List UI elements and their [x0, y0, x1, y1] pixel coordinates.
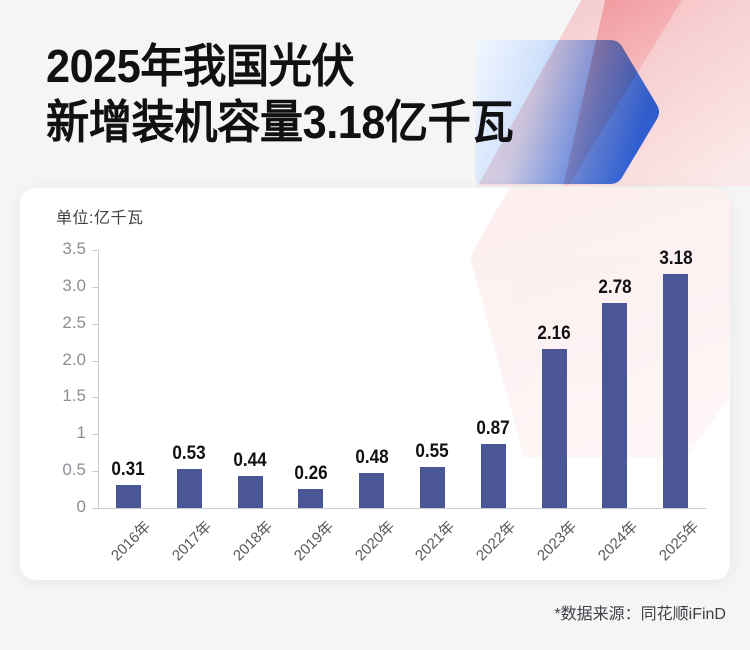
- y-axis-tick: [92, 434, 98, 435]
- y-axis-tick: [92, 397, 98, 398]
- x-axis-label: 2017年: [152, 516, 216, 580]
- y-axis-tick: [92, 508, 98, 509]
- y-axis-label: 1: [20, 423, 86, 443]
- y-axis-tick: [92, 250, 98, 251]
- bar-value-label: 0.31: [100, 459, 158, 481]
- y-axis-label: 0.5: [20, 460, 86, 480]
- chart-card: 单位:亿千瓦 00.511.52.02.53.03.50.312016年0.53…: [20, 188, 730, 580]
- bar: [542, 349, 567, 508]
- bar: [116, 485, 141, 508]
- y-axis-tick: [92, 324, 98, 325]
- bar-value-label: 2.16: [525, 323, 583, 345]
- x-axis-label: 2016年: [91, 516, 155, 580]
- y-axis-tick: [92, 471, 98, 472]
- y-axis-label: 2.5: [20, 313, 86, 333]
- infographic-root: 2025年我国光伏 新增装机容量3.18亿千瓦 单位:亿千瓦 00.511.52…: [0, 0, 750, 650]
- y-axis-label: 2.0: [20, 350, 86, 370]
- y-axis-label: 0: [20, 497, 86, 517]
- bar-value-label: 0.87: [464, 418, 522, 440]
- bar: [602, 303, 627, 508]
- y-axis-label: 3.5: [20, 239, 86, 259]
- x-axis-label: 2019年: [273, 516, 337, 580]
- y-axis-tick: [92, 361, 98, 362]
- bar: [177, 469, 202, 508]
- x-axis-label: 2024年: [577, 516, 641, 580]
- bar: [663, 274, 688, 508]
- source-note: *数据来源：同花顺iFinD: [554, 600, 726, 624]
- x-axis-label: 2022年: [456, 516, 520, 580]
- header: 2025年我国光伏 新增装机容量3.18亿千瓦: [46, 38, 686, 150]
- bar-value-label: 0.53: [160, 443, 218, 465]
- bar: [238, 476, 263, 508]
- bar: [359, 473, 384, 508]
- bar-value-label: 3.18: [647, 248, 705, 270]
- y-axis-tick: [92, 287, 98, 288]
- page-title-line-1: 2025年我国光伏: [46, 38, 648, 94]
- bar-value-label: 0.26: [282, 463, 340, 485]
- bar-value-label: 0.44: [221, 450, 279, 472]
- y-axis-label: 1.5: [20, 386, 86, 406]
- y-axis-label: 3.0: [20, 276, 86, 296]
- x-axis-label: 2025年: [638, 516, 702, 580]
- bar-value-label: 2.78: [586, 277, 644, 299]
- bar-value-label: 0.48: [343, 447, 401, 469]
- page-title-line-2: 新增装机容量3.18亿千瓦: [46, 94, 648, 150]
- x-axis-label: 2023年: [517, 516, 581, 580]
- x-axis-label: 2020年: [334, 516, 398, 580]
- x-axis-line: [98, 508, 706, 509]
- bar-chart-plot: 00.511.52.02.53.03.50.312016年0.532017年0.…: [20, 188, 730, 580]
- bar: [298, 489, 323, 508]
- x-axis-label: 2021年: [395, 516, 459, 580]
- bar-value-label: 0.55: [404, 441, 462, 463]
- bar: [420, 467, 445, 508]
- x-axis-label: 2018年: [213, 516, 277, 580]
- bar: [481, 444, 506, 508]
